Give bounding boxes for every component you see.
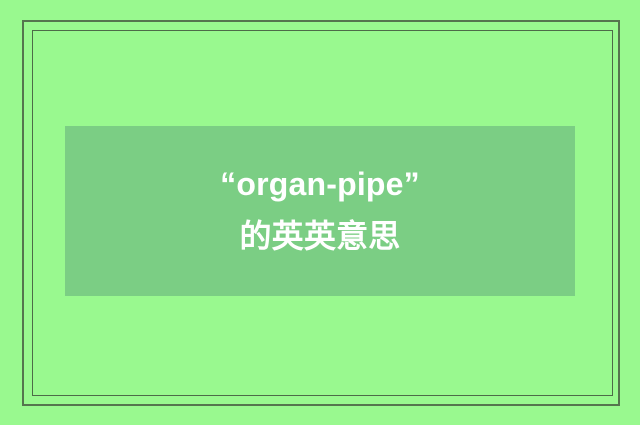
poster-canvas: “organ-pipe”的英英意思 bbox=[0, 0, 640, 425]
title-card: “organ-pipe”的英英意思 bbox=[65, 126, 575, 296]
page-title: “organ-pipe”的英英意思 bbox=[215, 159, 425, 263]
